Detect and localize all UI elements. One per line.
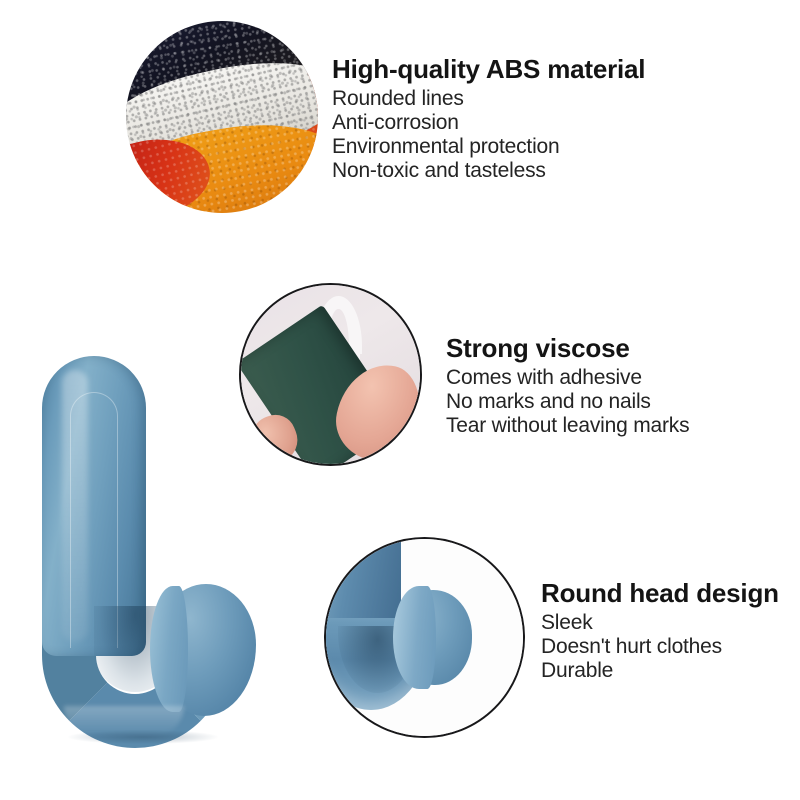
feature-bullets-round-head: Sleek Doesn't hurt clothes Durable xyxy=(541,611,779,683)
hook-base-shadow xyxy=(68,730,218,744)
abs-pellets-photo xyxy=(126,21,318,213)
feature-bullet: Rounded lines xyxy=(332,87,645,111)
feature-heading-round-head: Round head design xyxy=(541,578,779,608)
feature-heading-strong-viscose: Strong viscose xyxy=(446,333,689,363)
feature-text-round-head: Round head design Sleek Doesn't hurt clo… xyxy=(541,578,779,683)
product-photo-blue-hook xyxy=(38,356,260,748)
adhesive-peel-photo xyxy=(241,285,420,464)
feature-bullet: Anti-corrosion xyxy=(332,111,645,135)
feature-photo-round-head xyxy=(324,537,525,738)
feature-bullets-abs-material: Rounded lines Anti-corrosion Environment… xyxy=(332,87,645,183)
feature-bullet: Durable xyxy=(541,659,779,683)
feature-bullet: Sleek xyxy=(541,611,779,635)
feature-photo-strong-viscose xyxy=(239,283,422,466)
feature-bullets-strong-viscose: Comes with adhesive No marks and no nail… xyxy=(446,366,689,438)
feature-bullet: Tear without leaving marks xyxy=(446,414,689,438)
round-head-closeup-photo xyxy=(326,539,523,736)
feature-bullet: Non-toxic and tasteless xyxy=(332,159,645,183)
feature-bullet: Comes with adhesive xyxy=(446,366,689,390)
feature-bullet: Environmental protection xyxy=(332,135,645,159)
hook-tip-highlight xyxy=(150,586,188,712)
product-infographic: High-quality ABS material Rounded lines … xyxy=(0,0,800,800)
feature-bullet: No marks and no nails xyxy=(446,390,689,414)
feature-text-abs-material: High-quality ABS material Rounded lines … xyxy=(332,54,645,183)
feature-text-strong-viscose: Strong viscose Comes with adhesive No ma… xyxy=(446,333,689,438)
hook-tip-highlight-closeup xyxy=(393,586,436,688)
feature-bullet: Doesn't hurt clothes xyxy=(541,635,779,659)
feature-photo-abs-material xyxy=(126,21,318,213)
feature-heading-abs-material: High-quality ABS material xyxy=(332,54,645,84)
